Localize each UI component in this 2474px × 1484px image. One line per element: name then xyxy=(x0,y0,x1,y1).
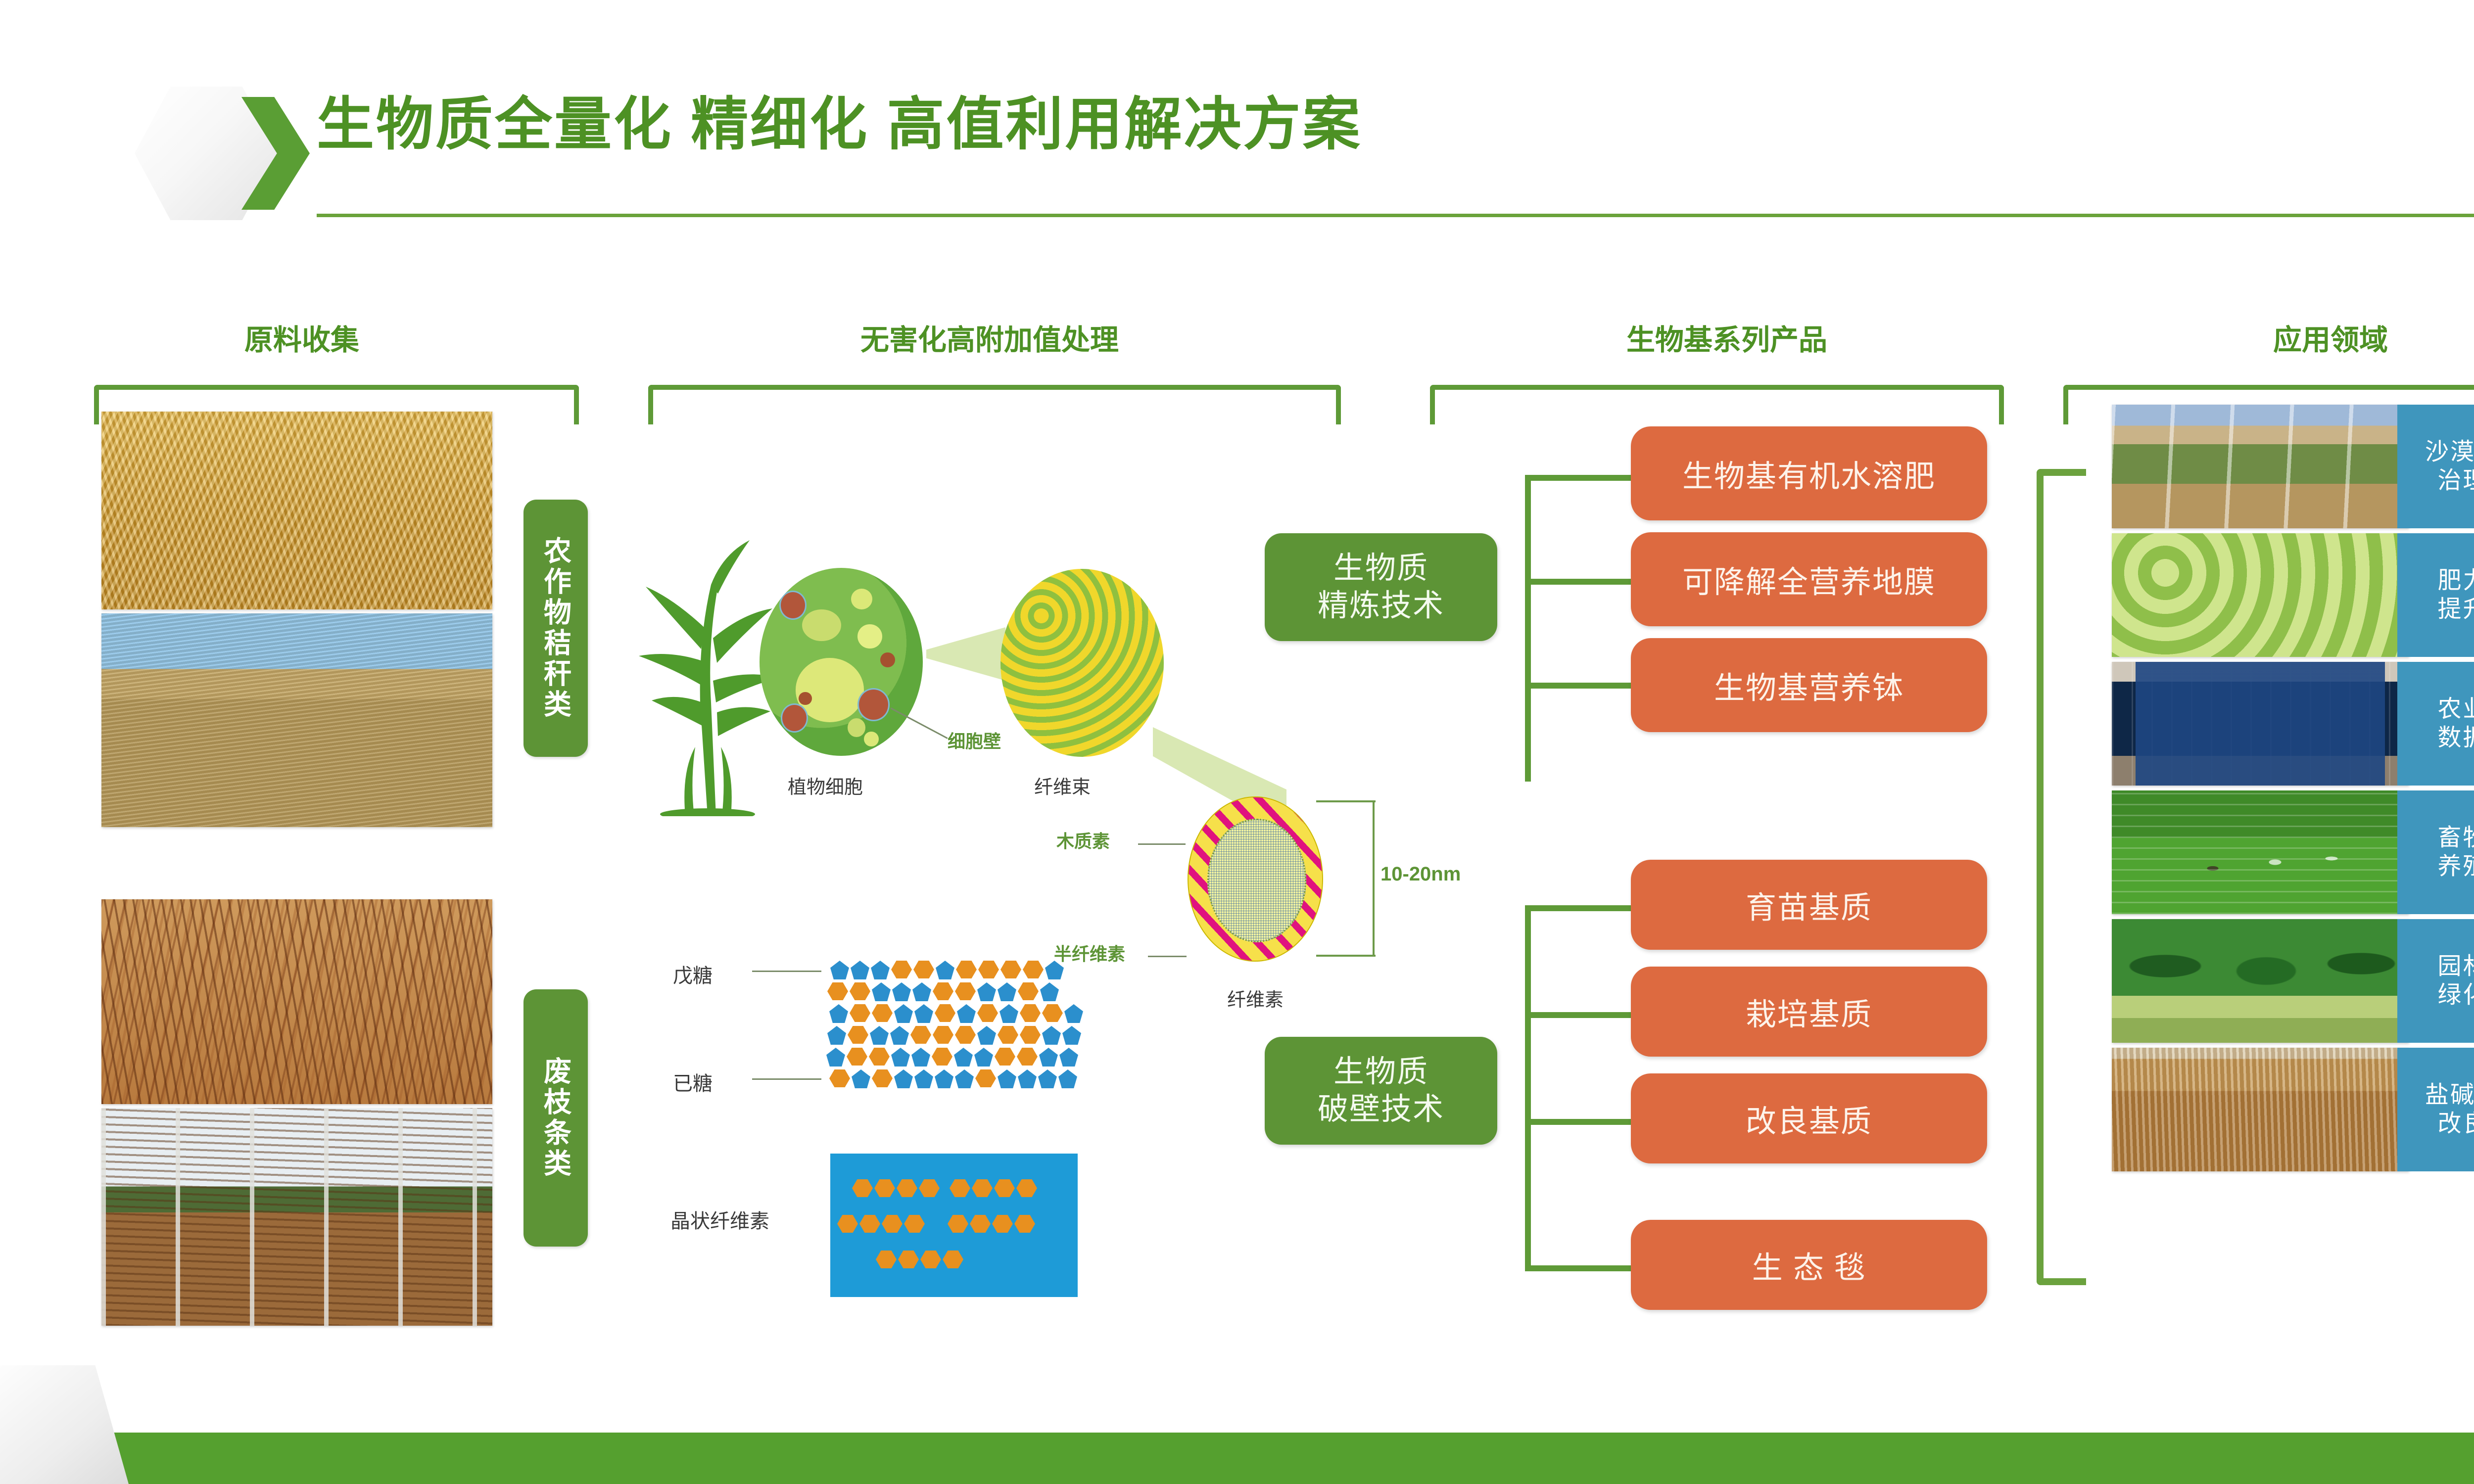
photo-corn-straw-field xyxy=(101,412,492,609)
tech-box-wallbreak-line1: 生物质 xyxy=(1333,1053,1428,1091)
label-hemicellulose: 半纤维素 xyxy=(1054,940,1125,966)
application-tag-livestock-breeding[interactable]: 畜牧 养殖 xyxy=(2397,790,2474,914)
connector-trunk-wallbreak xyxy=(1525,905,1531,1271)
photo-park-landscape xyxy=(2112,919,2409,1043)
application-tag-line2: 改良 xyxy=(2437,1110,2474,1138)
product-box-seedling-substrate[interactable]: 育苗基质 xyxy=(1631,860,1987,950)
sugar-chain-row xyxy=(826,1048,1078,1067)
product-box-ecological-blanket[interactable]: 生 态 毯 xyxy=(1631,1220,1987,1310)
photo-cabbage-field xyxy=(2112,533,2409,657)
application-tag-line1: 农业 xyxy=(2437,695,2474,724)
application-tag-line1: 沙漠化 xyxy=(2425,438,2474,466)
photo-desert-control xyxy=(2112,405,2409,528)
connector-branch-wallbreak-1 xyxy=(1525,905,1648,911)
product-label: 栽培基质 xyxy=(1746,989,1872,1034)
product-box-improvement-substrate[interactable]: 改良基质 xyxy=(1631,1073,1987,1163)
sugar-chain-row xyxy=(827,1026,1081,1045)
lignin-leader-line xyxy=(1138,843,1186,845)
header-divider xyxy=(317,214,2474,217)
application-tag-line2: 数据 xyxy=(2437,724,2474,752)
application-tag-line1: 肥力 xyxy=(2437,566,2474,595)
label-crystalline-cellulose: 晶状纤维素 xyxy=(670,1205,769,1234)
application-tag-line1: 园林 xyxy=(2437,952,2474,981)
application-tag-fertility-improvement[interactable]: 肥力 提升 xyxy=(2397,533,2474,657)
bracket-products-to-application xyxy=(2037,469,2086,1285)
label-cellulose: 纤维素 xyxy=(1227,984,1284,1012)
application-tag-landscape-greening[interactable]: 园林 绿化 xyxy=(2397,919,2474,1043)
sugar-chain-row xyxy=(827,982,1059,1001)
application-tag-line1: 盐碱地 xyxy=(2425,1081,2474,1110)
product-label: 生物基有机水溶肥 xyxy=(1682,451,1936,496)
photo-pruned-branches xyxy=(101,899,492,1104)
photo-grazing-sheep xyxy=(2112,790,2409,914)
application-tag-line2: 养殖 xyxy=(2437,852,2474,881)
tech-box-refining-line1: 生物质 xyxy=(1333,550,1428,587)
product-box-cultivation-substrate[interactable]: 栽培基质 xyxy=(1631,967,1987,1057)
dimension-top-tick xyxy=(1316,800,1376,802)
dimension-vertical-line xyxy=(1373,800,1375,957)
tech-box-wallbreak-line2: 破壁技术 xyxy=(1318,1091,1444,1128)
fiber-bundle-illustration xyxy=(1000,569,1164,757)
photo-straw-bale-field xyxy=(101,613,492,827)
label-lignin: 木质素 xyxy=(1056,827,1110,853)
category-tag-crop-straw: 农作物秸秆类 xyxy=(523,500,588,757)
connector-branch-wallbreak-2 xyxy=(1525,1012,1648,1018)
fiber-cross-section-illustration xyxy=(1188,796,1323,962)
bracket-processing xyxy=(648,385,1341,424)
connector-branch-refining-1 xyxy=(1525,475,1648,481)
connector-branch-wallbreak-3 xyxy=(1525,1119,1648,1125)
product-box-water-soluble-fertilizer[interactable]: 生物基有机水溶肥 xyxy=(1631,426,1987,520)
application-tag-line1: 畜牧 xyxy=(2437,824,2474,852)
infographic-canvas: 生物质全量化 精细化 高值利用解决方案 原料收集 无害化高附加值处理 生物基系列… xyxy=(0,0,2474,1484)
product-box-nutrition-pot[interactable]: 生物基营养钵 xyxy=(1631,638,1987,732)
category-tag-waste-branch: 废枝条类 xyxy=(523,989,588,1247)
product-label: 改良基质 xyxy=(1746,1096,1872,1141)
footer-wedge-decoration xyxy=(0,1365,129,1484)
section-title-processing: 无害化高附加值处理 xyxy=(668,317,1311,358)
sugar-chain-row xyxy=(829,1004,1083,1023)
product-label: 生物基营养钵 xyxy=(1714,663,1904,707)
label-cell-wall: 细胞壁 xyxy=(948,727,1001,753)
connector-branch-refining-3 xyxy=(1525,683,1648,689)
page-title: 生物质全量化 精细化 高值利用解决方案 xyxy=(317,93,1362,156)
tech-box-cell-wall-breaking[interactable]: 生物质 破壁技术 xyxy=(1265,1037,1497,1145)
connector-trunk-refining xyxy=(1525,475,1531,782)
tech-box-refining-line2: 精炼技术 xyxy=(1318,587,1444,625)
category-tag-crop-straw-label: 农作物秸秆类 xyxy=(536,536,576,720)
label-fiber-bundle: 纤维束 xyxy=(1034,772,1091,799)
footer-bar xyxy=(0,1433,2474,1484)
tech-box-biomass-refining[interactable]: 生物质 精炼技术 xyxy=(1265,533,1497,641)
crystalline-cellulose-panel xyxy=(830,1154,1078,1297)
sugar-chain-row xyxy=(829,1069,1077,1088)
bracket-products xyxy=(1430,385,2004,424)
section-title-application: 应用领域 xyxy=(2157,317,2474,358)
application-tag-line2: 绿化 xyxy=(2437,981,2474,1010)
application-tag-desertification-control[interactable]: 沙漠化 治理 xyxy=(2397,405,2474,528)
application-tag-agriculture-data[interactable]: 农业 数据 xyxy=(2397,662,2474,786)
connector-branch-wallbreak-4 xyxy=(1525,1265,1648,1271)
photo-vineyard-pruning xyxy=(101,1108,492,1326)
product-label: 育苗基质 xyxy=(1746,882,1872,927)
section-title-collection: 原料收集 xyxy=(148,317,455,358)
dimension-bottom-tick xyxy=(1316,955,1376,957)
photo-agriculture-data-center xyxy=(2112,662,2409,786)
magnify-beam-2 xyxy=(926,627,1005,681)
label-hexose: 已糖 xyxy=(673,1067,713,1096)
product-label: 可降解全营养地膜 xyxy=(1682,557,1936,602)
photo-saline-land xyxy=(2112,1048,2409,1171)
sugar-chain-row xyxy=(830,961,1064,979)
hemicellulose-leader-line xyxy=(1148,956,1187,957)
application-tag-line2: 提升 xyxy=(2437,595,2474,624)
label-pentose: 戊糖 xyxy=(673,960,713,988)
pentose-leader-line xyxy=(752,971,821,972)
section-title-products: 生物基系列产品 xyxy=(1450,317,2004,358)
label-fiber-dimension: 10-20nm xyxy=(1380,863,1461,885)
application-tag-saline-land-improvement[interactable]: 盐碱地 改良 xyxy=(2397,1048,2474,1171)
connector-branch-refining-2 xyxy=(1525,579,1648,585)
plant-cell-illustration xyxy=(760,568,923,756)
label-plant-cell: 植物细胞 xyxy=(788,772,863,799)
product-label: 生 态 毯 xyxy=(1752,1243,1866,1287)
category-tag-waste-branch-label: 废枝条类 xyxy=(536,1057,576,1179)
product-box-degradable-mulch-film[interactable]: 可降解全营养地膜 xyxy=(1631,532,1987,626)
application-tag-line2: 治理 xyxy=(2437,466,2474,495)
hexose-leader-line xyxy=(752,1078,821,1080)
